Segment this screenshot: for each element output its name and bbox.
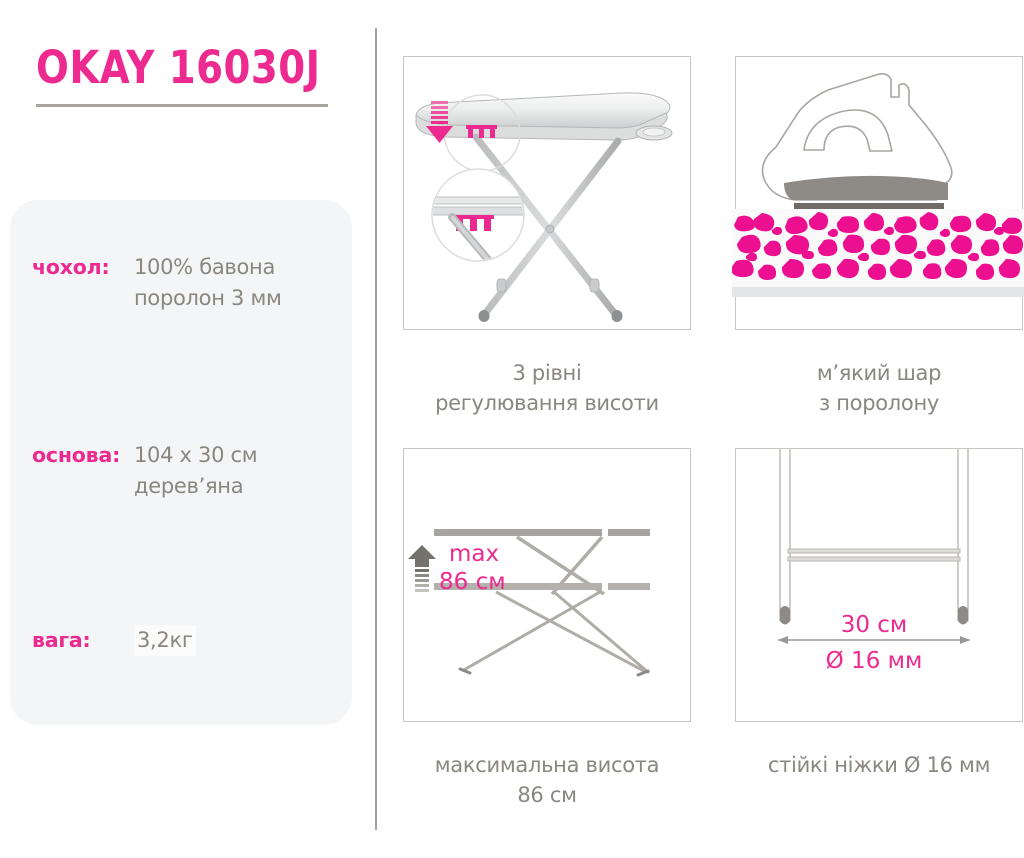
feature-cell-height-levels: 3 рівні регулювання висоти: [403, 56, 691, 418]
illustration-panel: max 86 см: [403, 448, 691, 722]
feature-caption: стійкі ніжки Ø 16 мм: [735, 750, 1023, 780]
feature-cell-max-height: max 86 см максимальна висота 86 см: [403, 448, 691, 810]
feature-cell-foam-layer: м’який шар з поролону: [735, 56, 1023, 418]
illustration-panel: [403, 56, 691, 330]
spec-label: основа:: [10, 440, 134, 470]
spec-card: чохол: 100% бавона поролон 3 мм основа: …: [10, 200, 352, 725]
spec-value: 104 x 30 см дерев’яна: [134, 440, 352, 502]
legs-diameter-value: Ø 16 мм: [826, 648, 923, 674]
feature-caption: максимальна висота 86 см: [403, 750, 691, 810]
spec-row: чохол: 100% бавона поролон 3 мм: [10, 252, 352, 314]
page-title: OKAY 16030J: [36, 42, 294, 94]
ironing-board-with-detail-circle-icon: [404, 57, 690, 329]
max-height-value: 86 см: [439, 569, 506, 595]
feature-panel-grid: 3 рівні регулювання висоти: [403, 56, 1015, 826]
title-underline-rule: [36, 104, 328, 107]
spec-value: 3,2кг: [134, 625, 196, 656]
iron-over-foam-layer-icon: [736, 57, 1022, 329]
board-height-diagram-icon: max 86 см: [404, 449, 690, 721]
up-arrow-icon: [408, 545, 436, 592]
spec-row: основа: 104 x 30 см дерев’яна: [10, 440, 352, 502]
legs-width-value: 30 см: [841, 612, 908, 638]
illustration-panel: 30 см Ø 16 мм: [735, 448, 1023, 722]
spec-row: вага: 3,2кг: [10, 625, 352, 656]
feature-caption: 3 рівні регулювання висоти: [403, 358, 691, 418]
illustration-panel: [735, 56, 1023, 330]
spec-label: вага:: [10, 625, 134, 655]
legs-width-diagram-icon: 30 см Ø 16 мм: [736, 449, 1022, 721]
detail-magnifier-circle: [424, 169, 539, 269]
feature-cell-stable-legs: 30 см Ø 16 мм стійкі ніжки Ø 16 мм: [735, 448, 1023, 780]
spec-value: 100% бавона поролон 3 мм: [134, 252, 352, 314]
product-info-column: OKAY 16030J чохол: 100% бавона поролон 3…: [0, 0, 375, 858]
vertical-divider: [375, 28, 377, 830]
max-label: max: [449, 541, 499, 567]
feature-caption: м’який шар з поролону: [735, 358, 1023, 418]
spec-label: чохол:: [10, 252, 134, 282]
